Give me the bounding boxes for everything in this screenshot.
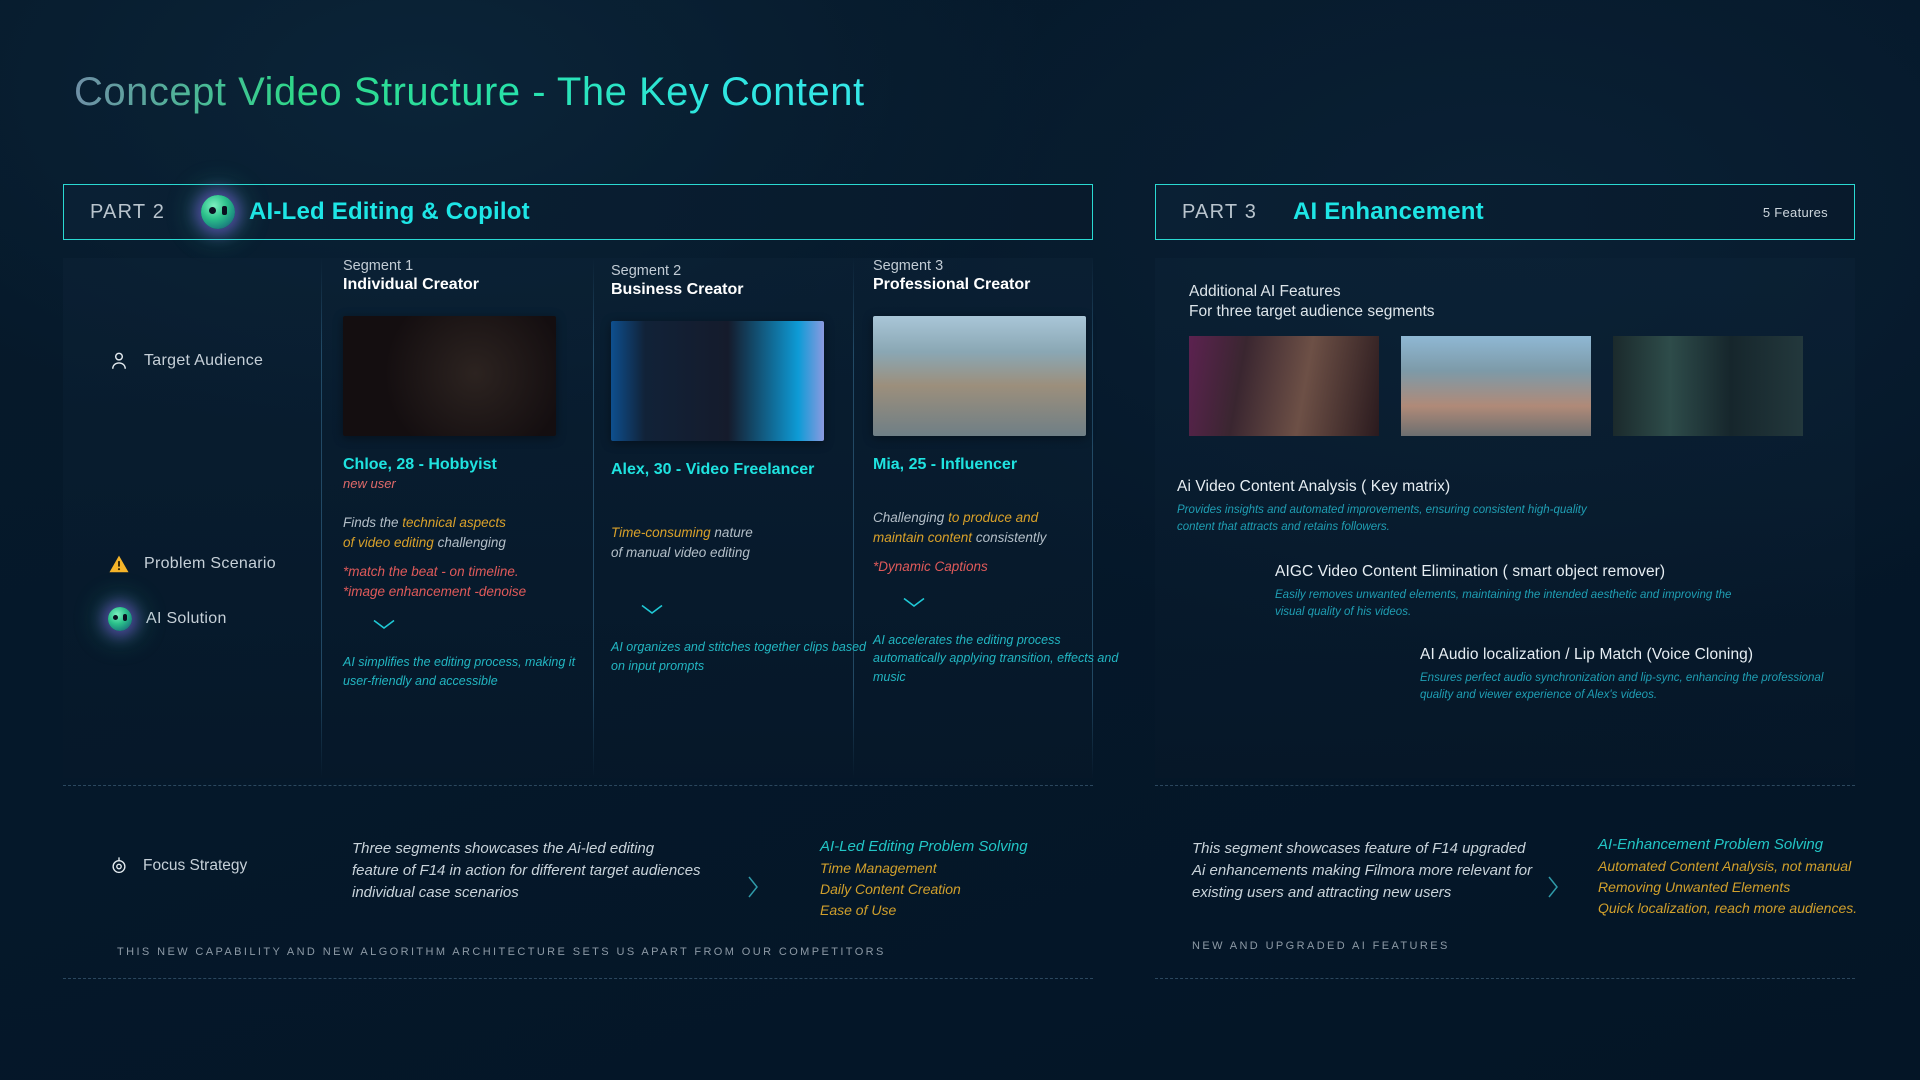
- ai-solution-text: AI organizes and stitches together clips…: [611, 638, 866, 676]
- solve-item: Removing Unwanted Elements: [1598, 879, 1888, 895]
- left-panel-divider: [63, 785, 1093, 786]
- feature-description: Easily removes unwanted elements, mainta…: [1275, 587, 1755, 622]
- solve-item: Quick localization, reach more audiences…: [1598, 900, 1888, 916]
- professional-creator-thumbnail: [873, 316, 1086, 436]
- column-divider-1: [321, 258, 322, 778]
- warning-triangle-icon: [108, 553, 130, 575]
- person-icon: [108, 350, 130, 372]
- part3-title: AI Enhancement: [1293, 198, 1484, 226]
- solve-title: AI-Enhancement Problem Solving: [1598, 836, 1888, 853]
- feature-name: AI Audio localization / Lip Match (Voice…: [1420, 646, 1840, 664]
- segment-kicker: Segment 2: [611, 263, 866, 279]
- part2-body: Target Audience Problem Scenario AI Solu…: [63, 258, 1093, 778]
- solve-title: AI-Led Editing Problem Solving: [820, 838, 1090, 855]
- target-icon: [108, 855, 130, 877]
- problem-text-3: Challenging to produce andmaintain conte…: [873, 508, 1128, 577]
- additional-line-2: For three target audience segments: [1189, 303, 1435, 321]
- persona-name: Mia, 25 - Influencer: [873, 456, 1128, 474]
- additional-features-heading: Additional AI Features For three target …: [1189, 283, 1435, 321]
- segment-kicker: Segment 3: [873, 258, 1128, 274]
- left-footer-divider: [63, 978, 1093, 979]
- row-label-text: Target Audience: [144, 352, 263, 370]
- chevron-down-icon: [901, 595, 927, 609]
- left-footer-description: Three segments showcases the Ai-led edit…: [352, 838, 702, 903]
- persona-name: Chloe, 28 - Hobbyist: [343, 456, 598, 474]
- chevron-right-icon: [745, 872, 761, 902]
- ai-orb-icon: [108, 607, 132, 631]
- part3-header: PART 3 AI Enhancement 5 Features: [1155, 184, 1855, 240]
- solve-item: Ease of Use: [820, 902, 1090, 918]
- ai-orb-icon: [201, 195, 235, 229]
- segment-column-2: Segment 2 Business Creator Alex, 30 - Vi…: [611, 263, 866, 676]
- ai-feature-3: AI Audio localization / Lip Match (Voice…: [1420, 646, 1840, 705]
- right-footer-caption: NEW AND UPGRADED AI FEATURES: [1192, 940, 1450, 952]
- left-problem-solving-block: AI-Led Editing Problem Solving Time Mana…: [820, 838, 1090, 918]
- ai-feature-thumbnails: [1189, 336, 1803, 436]
- problem-text-1: Finds the technical aspectsof video edit…: [343, 513, 598, 601]
- feature-count-badge: 5 Features: [1763, 205, 1828, 220]
- feature-description: Ensures perfect audio synchronization an…: [1420, 670, 1840, 705]
- part3-body: Additional AI Features For three target …: [1155, 258, 1855, 778]
- male-creator-thumbnail: [1189, 336, 1379, 436]
- chevron-down-icon: [639, 602, 665, 616]
- ai-solution-text: AI simplifies the editing process, makin…: [343, 653, 598, 691]
- segment-title: Business Creator: [611, 281, 866, 299]
- left-footer-caption: THIS NEW CAPABILITY AND NEW ALGORITHM AR…: [117, 946, 886, 958]
- segment-column-1: Segment 1 Individual Creator Chloe, 28 -…: [343, 258, 598, 691]
- part3-label: PART 3: [1182, 201, 1257, 224]
- focus-strategy-row: Focus Strategy: [108, 855, 247, 877]
- ai-feature-1: Ai Video Content Analysis ( Key matrix) …: [1177, 478, 1597, 537]
- persona-subtitle: new user: [343, 476, 598, 491]
- persona-name: Alex, 30 - Video Freelancer: [611, 461, 866, 479]
- ai-feature-2: AIGC Video Content Elimination ( smart o…: [1275, 563, 1755, 622]
- individual-creator-thumbnail: [343, 316, 556, 436]
- feature-name: Ai Video Content Analysis ( Key matrix): [1177, 478, 1597, 496]
- solve-item: Daily Content Creation: [820, 881, 1090, 897]
- feature-name: AIGC Video Content Elimination ( smart o…: [1275, 563, 1755, 581]
- solve-item: Time Management: [820, 860, 1090, 876]
- part2-label: PART 2: [90, 201, 165, 224]
- slide-canvas: Concept Video Structure - The Key Conten…: [0, 0, 1920, 1080]
- page-title: Concept Video Structure - The Key Conten…: [74, 70, 865, 115]
- problem-text-2: Time-consuming natureof manual video edi…: [611, 523, 866, 562]
- right-footer-divider: [1155, 978, 1855, 979]
- focus-strategy-label: Focus Strategy: [143, 857, 247, 875]
- chevron-down-icon: [371, 617, 397, 631]
- segment-column-3: Segment 3 Professional Creator Mia, 25 -…: [873, 258, 1128, 687]
- row-label-text: Problem Scenario: [144, 555, 276, 573]
- right-footer-description: This segment showcases feature of F14 up…: [1192, 838, 1542, 903]
- segment-title: Professional Creator: [873, 276, 1128, 294]
- street-photographer-thumbnail: [1401, 336, 1591, 436]
- ai-solution-text: AI accelerates the editing process autom…: [873, 631, 1128, 687]
- additional-line-1: Additional AI Features: [1189, 283, 1435, 301]
- feature-description: Provides insights and automated improvem…: [1177, 502, 1597, 537]
- segment-title: Individual Creator: [343, 276, 598, 294]
- row-label-problem-scenario: Problem Scenario: [108, 553, 276, 575]
- row-label-ai-solution: AI Solution: [108, 607, 227, 631]
- chevron-right-icon: [1545, 872, 1561, 902]
- segment-kicker: Segment 1: [343, 258, 598, 274]
- part2-title: AI-Led Editing & Copilot: [249, 198, 530, 226]
- row-label-target-audience: Target Audience: [108, 350, 263, 372]
- right-problem-solving-block: AI-Enhancement Problem Solving Automated…: [1598, 836, 1888, 916]
- row-label-text: AI Solution: [146, 610, 227, 628]
- part2-header: PART 2 AI-Led Editing & Copilot: [63, 184, 1093, 240]
- solve-item: Automated Content Analysis, not manual: [1598, 858, 1888, 874]
- right-panel-divider: [1155, 785, 1855, 786]
- business-creator-thumbnail: [611, 321, 824, 441]
- night-portrait-thumbnail: [1613, 336, 1803, 436]
